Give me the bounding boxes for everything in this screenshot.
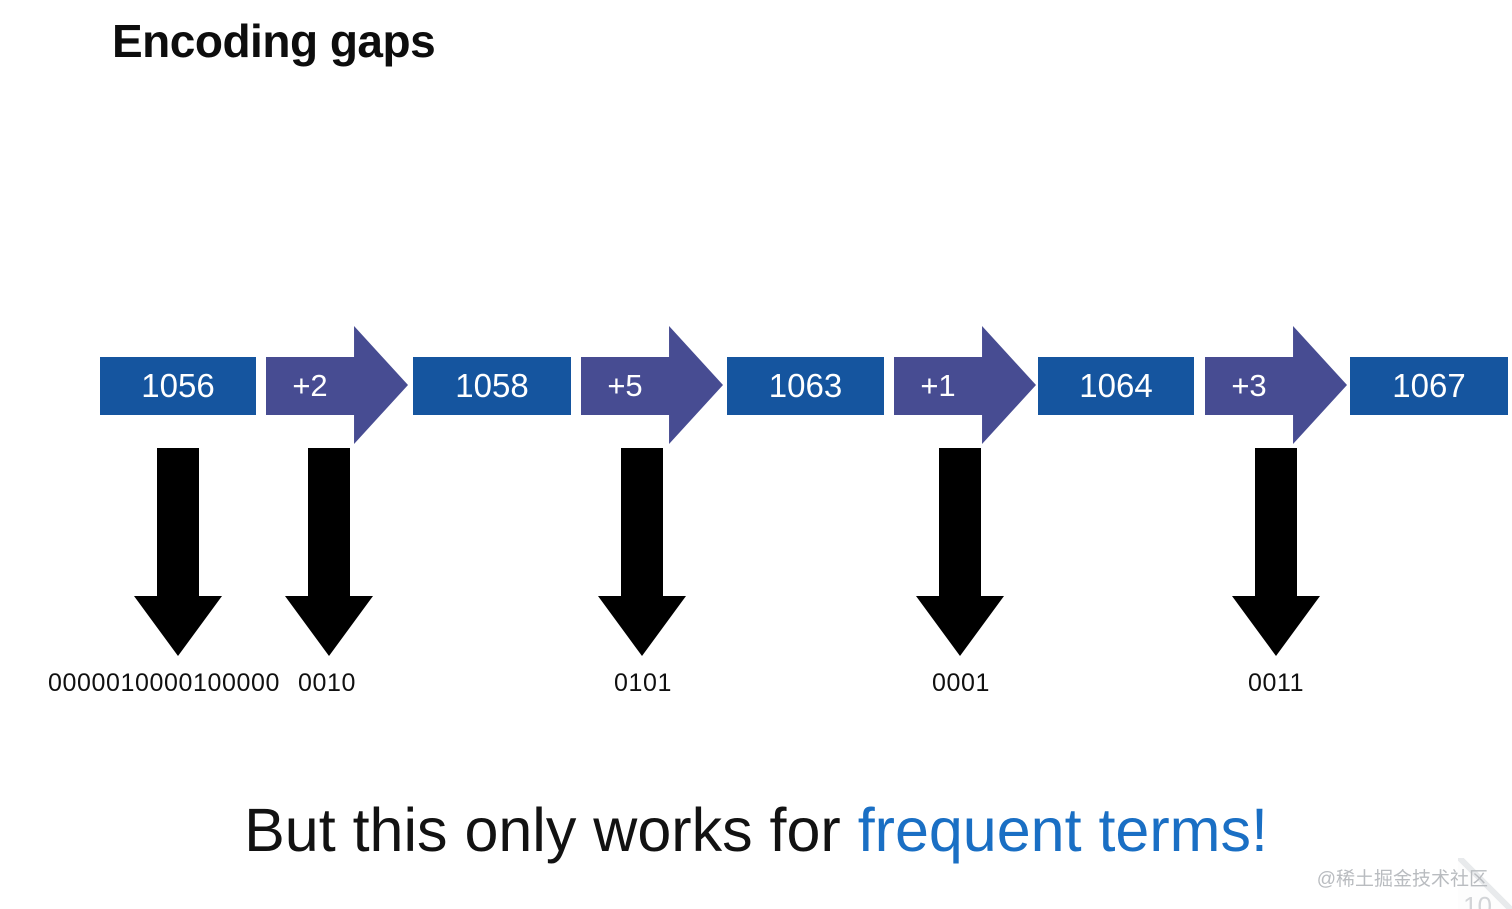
page-number: 10 [1463, 893, 1492, 909]
down-arrow-shape [285, 448, 373, 656]
gap-arrow: +1 [894, 326, 1036, 444]
doc-id-box: 1064 [1038, 357, 1194, 415]
down-arrow [134, 448, 222, 656]
doc-id-box: 1067 [1350, 357, 1508, 415]
gap-arrow: +2 [266, 326, 408, 444]
gap-arrow: +3 [1205, 326, 1347, 444]
down-arrow-shape [916, 448, 1004, 656]
gap-arrow: +5 [581, 326, 723, 444]
down-arrow [598, 448, 686, 656]
down-arrow-shape [1232, 448, 1320, 656]
binary-code-label: 0011 [1248, 669, 1304, 698]
page-title: Encoding gaps [112, 14, 435, 68]
gap-arrow-label: +2 [266, 357, 354, 415]
gap-arrow-label: +5 [581, 357, 669, 415]
down-arrow-shape [598, 448, 686, 656]
down-arrow-shape [134, 448, 222, 656]
bottom-sentence-highlight: frequent terms! [858, 796, 1268, 864]
gap-arrow-label: +3 [1205, 357, 1293, 415]
down-arrow [916, 448, 1004, 656]
encoding-strip: 1056+21058+51063+11064+31067 [0, 326, 1512, 446]
bottom-sentence: But this only works for frequent terms! [0, 795, 1512, 865]
gap-arrow-label: +1 [894, 357, 982, 415]
doc-id-box: 1058 [413, 357, 571, 415]
down-arrow [1232, 448, 1320, 656]
binary-code-label: 0000010000100000 [48, 669, 280, 698]
bottom-sentence-lead: But this only works for [244, 796, 858, 864]
doc-id-box: 1063 [727, 357, 884, 415]
doc-id-box: 1056 [100, 357, 256, 415]
binary-code-label: 0010 [298, 669, 356, 698]
binary-code-label: 0001 [932, 669, 990, 698]
watermark: @稀土掘金技术社区 [1317, 864, 1488, 891]
down-arrow [285, 448, 373, 656]
binary-code-label: 0101 [614, 669, 672, 698]
